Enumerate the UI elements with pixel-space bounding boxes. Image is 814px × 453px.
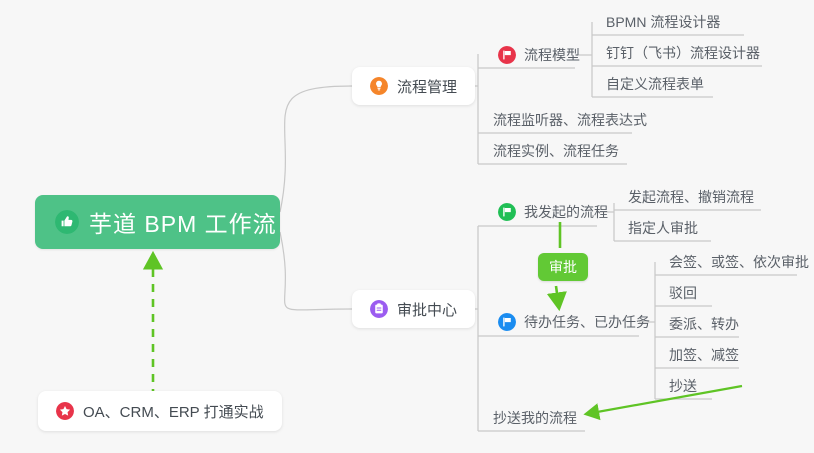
link-root-to-process-management — [280, 86, 352, 212]
node-label: 会签、或签、依次审批 — [669, 252, 809, 272]
branch-approval-center[interactable]: 审批中心 — [352, 290, 475, 328]
link-root-to-approval-center — [280, 232, 352, 310]
node-add-remove-sign[interactable]: 加签、减签 — [663, 342, 745, 368]
branch-label: 审批中心 — [397, 299, 457, 320]
star-icon — [56, 402, 74, 420]
node-my-initiated-process[interactable]: 我发起的流程 — [492, 199, 614, 225]
node-label: 流程实例、流程任务 — [493, 141, 619, 161]
node-process-listener-expression[interactable]: 流程监听器、流程表达式 — [487, 107, 653, 133]
node-bpmn-designer[interactable]: BPMN 流程设计器 — [600, 9, 726, 35]
node-label: 自定义流程表单 — [606, 74, 704, 94]
badge-label: 审批 — [549, 259, 577, 275]
node-label: 抄送 — [669, 376, 697, 396]
thumbs-up-icon — [55, 210, 79, 234]
node-label: 待办任务、已办任务 — [524, 312, 650, 332]
node-process-instance-task[interactable]: 流程实例、流程任务 — [487, 138, 625, 164]
root-node[interactable]: 芋道 BPM 工作流 — [35, 195, 280, 249]
node-label: 流程监听器、流程表达式 — [493, 110, 647, 130]
node-process-model[interactable]: 流程模型 — [492, 42, 586, 68]
node-label: 驳回 — [669, 283, 697, 303]
arrow-approval-flow-lower — [556, 286, 559, 308]
note-label: OA、CRM、ERP 打通实战 — [83, 401, 264, 422]
node-designated-approver[interactable]: 指定人审批 — [622, 215, 704, 241]
mindmap-canvas: 芋道 BPM 工作流 流程管理 流程模型 BPMN 流程设计器 钉钉（飞书）流程… — [0, 0, 814, 453]
node-label: 发起流程、撤销流程 — [628, 187, 754, 207]
branch-label: 流程管理 — [397, 76, 457, 97]
node-countersign-orsign-sequential[interactable]: 会签、或签、依次审批 — [663, 249, 814, 275]
node-label: 指定人审批 — [628, 218, 698, 238]
node-todo-done-tasks[interactable]: 待办任务、已办任务 — [492, 309, 656, 335]
root-label: 芋道 BPM 工作流 — [89, 205, 277, 239]
node-label: 加签、减签 — [669, 345, 739, 365]
node-dingtalk-feishu-designer[interactable]: 钉钉（飞书）流程设计器 — [600, 40, 766, 66]
flag-icon — [498, 313, 516, 331]
node-label: 钉钉（飞书）流程设计器 — [606, 43, 760, 63]
flag-icon — [498, 46, 516, 64]
node-start-cancel-process[interactable]: 发起流程、撤销流程 — [622, 184, 760, 210]
node-label: BPMN 流程设计器 — [606, 12, 720, 32]
flag-icon — [498, 203, 516, 221]
note-integration-practice[interactable]: OA、CRM、ERP 打通实战 — [38, 391, 282, 431]
node-reject[interactable]: 驳回 — [663, 280, 703, 306]
node-custom-process-form[interactable]: 自定义流程表单 — [600, 71, 710, 97]
clipboard-icon — [370, 300, 388, 318]
node-label: 委派、转办 — [669, 314, 739, 334]
node-carbon-copy[interactable]: 抄送 — [663, 373, 703, 399]
node-label: 我发起的流程 — [524, 202, 608, 222]
approval-annotation-badge: 审批 — [538, 253, 588, 281]
node-delegate-transfer[interactable]: 委派、转办 — [663, 311, 745, 337]
branch-process-management[interactable]: 流程管理 — [352, 67, 475, 105]
node-label: 流程模型 — [524, 45, 580, 65]
node-label: 抄送我的流程 — [493, 408, 577, 428]
node-cc-to-me-process[interactable]: 抄送我的流程 — [487, 405, 583, 431]
lightbulb-icon — [370, 77, 388, 95]
